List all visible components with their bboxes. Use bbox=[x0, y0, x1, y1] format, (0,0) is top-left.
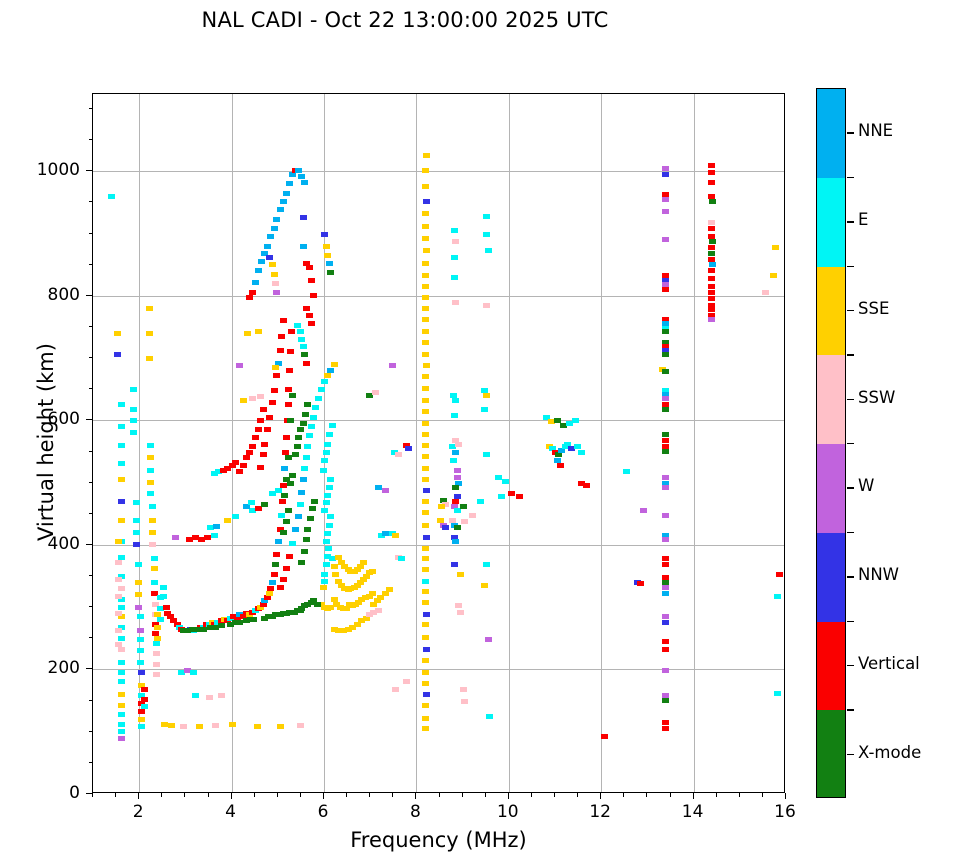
echo-mark bbox=[211, 533, 218, 538]
echo-mark bbox=[246, 295, 253, 300]
echo-mark bbox=[321, 232, 328, 237]
x-tick-minor bbox=[462, 793, 463, 797]
echo-mark bbox=[300, 244, 307, 249]
echo-mark bbox=[249, 444, 256, 449]
echo-mark bbox=[382, 531, 389, 536]
y-tick-major bbox=[86, 170, 92, 171]
echo-mark bbox=[269, 400, 276, 405]
echo-mark bbox=[422, 477, 429, 482]
echo-mark bbox=[422, 273, 429, 278]
echo-mark bbox=[422, 579, 429, 584]
echo-mark bbox=[329, 423, 336, 428]
echo-mark bbox=[708, 245, 715, 250]
echo-mark bbox=[118, 670, 125, 675]
echo-mark bbox=[267, 586, 274, 591]
echo-mark bbox=[272, 281, 279, 286]
echo-mark bbox=[555, 452, 562, 457]
echo-mark bbox=[708, 290, 715, 295]
echo-mark bbox=[662, 620, 669, 625]
echo-mark bbox=[133, 518, 140, 523]
echo-mark bbox=[147, 468, 154, 473]
echo-mark bbox=[662, 720, 669, 725]
echo-mark bbox=[422, 556, 429, 561]
echo-mark bbox=[295, 168, 302, 173]
echo-mark bbox=[272, 612, 279, 617]
echo-mark bbox=[574, 444, 581, 449]
echo-mark bbox=[708, 163, 715, 168]
x-tick-minor bbox=[531, 793, 532, 797]
echo-mark bbox=[422, 421, 429, 426]
colorbar-segment-nne[interactable] bbox=[817, 89, 845, 178]
colorbar-segment-w[interactable] bbox=[817, 444, 845, 533]
y-tick-minor bbox=[89, 326, 93, 327]
echo-mark bbox=[135, 605, 142, 610]
echo-mark bbox=[252, 435, 259, 440]
echo-mark bbox=[273, 552, 280, 557]
echo-mark bbox=[776, 572, 783, 577]
echo-mark bbox=[662, 287, 669, 292]
echo-mark bbox=[232, 514, 239, 519]
echo-mark bbox=[422, 211, 429, 216]
echo-mark bbox=[252, 280, 259, 285]
x-tick-label: 14 bbox=[663, 802, 723, 822]
echo-mark bbox=[508, 491, 515, 496]
colorbar-boundary-tick bbox=[847, 709, 854, 710]
echo-mark bbox=[323, 500, 330, 505]
colorbar-tick bbox=[847, 576, 854, 577]
echo-mark bbox=[438, 504, 445, 509]
echo-mark bbox=[450, 458, 457, 463]
x-tick-minor bbox=[346, 793, 347, 797]
echo-mark bbox=[662, 647, 669, 652]
echo-mark bbox=[303, 306, 310, 311]
echo-mark bbox=[392, 533, 399, 538]
echo-mark bbox=[149, 504, 156, 509]
echo-mark bbox=[288, 610, 295, 615]
page-title: NAL CADI - Oct 22 13:00:00 2025 UTC bbox=[0, 8, 810, 32]
echo-mark bbox=[308, 278, 315, 283]
echo-mark bbox=[153, 651, 160, 656]
x-tick-minor bbox=[739, 793, 740, 797]
echo-mark bbox=[297, 427, 304, 432]
echo-mark bbox=[422, 261, 429, 266]
colorbar-label-x-mode: X-mode bbox=[858, 743, 921, 762]
echo-mark bbox=[662, 197, 669, 202]
echo-mark bbox=[483, 562, 490, 567]
echo-mark bbox=[308, 321, 315, 326]
echo-mark bbox=[218, 623, 225, 628]
echo-mark bbox=[249, 396, 256, 401]
echo-mark bbox=[708, 180, 715, 185]
echo-mark bbox=[662, 432, 669, 437]
echo-mark bbox=[774, 691, 781, 696]
echo-mark bbox=[180, 724, 187, 729]
echo-mark bbox=[137, 614, 144, 619]
echo-mark bbox=[147, 480, 154, 485]
echo-mark bbox=[442, 525, 449, 530]
x-tick-minor bbox=[277, 793, 278, 797]
echo-mark bbox=[483, 393, 490, 398]
echo-mark bbox=[264, 244, 271, 249]
echo-mark bbox=[369, 569, 376, 574]
echo-mark bbox=[157, 617, 164, 622]
echo-mark bbox=[294, 444, 301, 449]
echo-mark bbox=[160, 585, 167, 590]
x-tick-label: 4 bbox=[201, 802, 261, 822]
echo-mark bbox=[190, 670, 197, 675]
y-tick-minor bbox=[89, 762, 93, 763]
echo-mark bbox=[502, 479, 509, 484]
x-tick-minor bbox=[439, 793, 440, 797]
echo-mark bbox=[115, 539, 122, 544]
echo-mark bbox=[146, 356, 153, 361]
echo-mark bbox=[138, 724, 145, 729]
echo-mark bbox=[118, 586, 125, 591]
echo-mark bbox=[133, 530, 140, 535]
echo-mark bbox=[246, 450, 253, 455]
x-tick-label: 10 bbox=[478, 802, 538, 822]
echo-mark bbox=[662, 485, 669, 490]
colorbar-segment-x-mode[interactable] bbox=[817, 710, 845, 798]
echo-mark bbox=[557, 463, 564, 468]
echo-mark bbox=[272, 365, 279, 370]
echo-mark bbox=[146, 306, 153, 311]
echo-mark bbox=[277, 348, 284, 353]
echo-mark bbox=[135, 592, 142, 597]
y-tick-minor bbox=[89, 451, 93, 452]
echo-mark bbox=[637, 581, 644, 586]
colorbar-segment-e[interactable] bbox=[817, 178, 845, 267]
echo-mark bbox=[423, 248, 430, 253]
echo-mark bbox=[572, 418, 579, 423]
echo-mark bbox=[151, 566, 158, 571]
y-tick-major bbox=[86, 793, 92, 794]
echo-mark bbox=[114, 352, 121, 357]
echo-mark bbox=[451, 562, 458, 567]
echo-mark bbox=[662, 726, 669, 731]
x-tick-minor bbox=[762, 793, 763, 797]
echo-mark bbox=[141, 697, 148, 702]
echo-mark bbox=[257, 418, 264, 423]
echo-mark bbox=[477, 499, 484, 504]
colorbar-boundary-tick bbox=[847, 532, 854, 533]
echo-mark bbox=[271, 272, 278, 277]
echo-mark bbox=[601, 734, 608, 739]
echo-mark bbox=[301, 180, 308, 185]
echo-mark bbox=[314, 602, 321, 607]
echo-mark bbox=[141, 687, 148, 692]
x-tick-label: 6 bbox=[293, 802, 353, 822]
echo-mark bbox=[115, 577, 122, 582]
echo-mark bbox=[662, 396, 669, 401]
echo-mark bbox=[386, 587, 393, 592]
echo-mark bbox=[422, 670, 429, 675]
echo-mark bbox=[422, 306, 429, 311]
echo-mark bbox=[708, 317, 715, 322]
echo-mark bbox=[422, 284, 429, 289]
echo-mark bbox=[708, 251, 715, 256]
echo-mark bbox=[224, 518, 231, 523]
echo-mark bbox=[115, 611, 122, 616]
echo-mark bbox=[422, 168, 429, 173]
colorbar-label-e: E bbox=[858, 210, 868, 229]
colorbar-boundary-tick bbox=[847, 354, 854, 355]
echo-mark bbox=[301, 466, 308, 471]
echo-mark bbox=[118, 518, 125, 523]
echo-mark bbox=[271, 226, 278, 231]
echo-mark bbox=[192, 693, 199, 698]
echo-mark bbox=[118, 722, 125, 727]
echo-mark bbox=[422, 224, 429, 229]
colorbar-segment-sse[interactable] bbox=[817, 267, 845, 356]
echo-mark bbox=[708, 276, 715, 281]
echo-mark bbox=[486, 714, 493, 719]
echo-mark bbox=[254, 724, 261, 729]
x-tick-minor bbox=[670, 793, 671, 797]
echo-mark bbox=[138, 670, 145, 675]
echo-mark bbox=[138, 717, 145, 722]
y-tick-label: 1000 bbox=[20, 160, 80, 180]
echo-mark bbox=[398, 556, 405, 561]
echo-mark bbox=[118, 712, 125, 717]
y-tick-minor bbox=[89, 700, 93, 701]
echo-mark bbox=[115, 560, 122, 565]
echo-mark bbox=[118, 499, 125, 504]
gridline-horizontal bbox=[93, 420, 784, 421]
echo-mark bbox=[483, 303, 490, 308]
echo-mark bbox=[118, 402, 125, 407]
echo-mark bbox=[303, 455, 310, 460]
echo-mark bbox=[285, 387, 292, 392]
echo-mark bbox=[662, 537, 669, 542]
echo-mark bbox=[662, 556, 669, 561]
colorbar-boundary-tick bbox=[847, 443, 854, 444]
echo-mark bbox=[455, 442, 462, 447]
echo-mark bbox=[422, 622, 429, 627]
echo-mark bbox=[662, 668, 669, 673]
echo-mark bbox=[454, 525, 461, 530]
echo-mark bbox=[422, 726, 429, 731]
echo-mark bbox=[280, 577, 287, 582]
echo-mark bbox=[422, 466, 429, 471]
x-tick-minor bbox=[392, 793, 393, 797]
echo-mark bbox=[255, 329, 262, 334]
echo-mark bbox=[321, 572, 328, 577]
x-tick-major bbox=[323, 793, 324, 799]
echo-mark bbox=[151, 556, 158, 561]
echo-mark bbox=[422, 510, 429, 515]
echo-mark bbox=[422, 409, 429, 414]
echo-mark bbox=[135, 562, 142, 567]
ionogram-page: NAL CADI - Oct 22 13:00:00 2025 UTC 2468… bbox=[0, 0, 958, 857]
echo-mark bbox=[160, 594, 167, 599]
echo-mark bbox=[289, 473, 296, 478]
echo-mark bbox=[261, 502, 268, 507]
echo-mark bbox=[118, 424, 125, 429]
echo-mark bbox=[130, 407, 137, 412]
echo-mark bbox=[422, 499, 429, 504]
x-tick-label: 8 bbox=[385, 802, 445, 822]
echo-mark bbox=[454, 508, 461, 513]
echo-mark bbox=[422, 658, 429, 663]
echo-mark bbox=[662, 438, 669, 443]
echo-mark bbox=[277, 207, 284, 212]
gridline-vertical bbox=[601, 94, 602, 792]
echo-mark bbox=[172, 535, 179, 540]
echo-mark bbox=[289, 172, 296, 177]
echo-mark bbox=[423, 363, 430, 368]
echo-mark bbox=[240, 398, 247, 403]
echo-mark bbox=[294, 323, 301, 328]
echo-mark bbox=[327, 477, 334, 482]
y-tick-minor bbox=[89, 108, 93, 109]
echo-mark bbox=[327, 270, 334, 275]
y-tick-minor bbox=[89, 606, 93, 607]
echo-mark bbox=[264, 595, 271, 600]
echo-mark bbox=[213, 524, 220, 529]
gridline-horizontal bbox=[93, 171, 784, 172]
x-tick-major bbox=[138, 793, 139, 799]
echo-mark bbox=[115, 594, 122, 599]
colorbar-label-nne: NNE bbox=[858, 121, 893, 140]
echo-mark bbox=[323, 244, 330, 249]
y-tick-minor bbox=[89, 357, 93, 358]
echo-mark bbox=[153, 641, 160, 646]
echo-mark bbox=[709, 199, 716, 204]
echo-mark bbox=[405, 446, 412, 451]
echo-mark bbox=[772, 245, 779, 250]
echo-mark bbox=[286, 554, 293, 559]
y-tick-label: 800 bbox=[20, 285, 80, 305]
echo-mark bbox=[662, 614, 669, 619]
x-tick-minor bbox=[115, 793, 116, 797]
echo-mark bbox=[257, 394, 264, 399]
echo-mark bbox=[278, 513, 285, 518]
echo-mark bbox=[452, 450, 459, 455]
echo-mark bbox=[395, 452, 402, 457]
x-tick-major bbox=[415, 793, 416, 799]
echo-mark bbox=[323, 450, 330, 455]
echo-mark bbox=[516, 494, 523, 499]
echo-mark bbox=[324, 373, 331, 378]
echo-mark bbox=[138, 709, 145, 714]
ionogram-plot-area[interactable] bbox=[92, 93, 785, 793]
x-tick-major bbox=[693, 793, 694, 799]
echo-mark bbox=[311, 499, 318, 504]
echo-mark bbox=[271, 388, 278, 393]
echo-mark bbox=[483, 452, 490, 457]
echo-mark bbox=[309, 506, 316, 511]
echo-mark bbox=[304, 444, 311, 449]
echo-mark bbox=[287, 481, 294, 486]
echo-mark bbox=[264, 427, 271, 432]
colorbar-tick bbox=[847, 487, 854, 488]
echo-mark bbox=[325, 546, 332, 551]
echo-mark bbox=[295, 435, 302, 440]
echo-mark bbox=[455, 603, 462, 608]
echo-mark bbox=[770, 273, 777, 278]
echo-mark bbox=[285, 508, 292, 513]
gridline-vertical bbox=[694, 94, 695, 792]
echo-mark bbox=[469, 513, 476, 518]
y-tick-minor bbox=[89, 139, 93, 140]
echo-mark bbox=[298, 337, 305, 342]
y-tick-minor bbox=[89, 731, 93, 732]
echo-mark bbox=[382, 488, 389, 493]
echo-mark bbox=[118, 703, 125, 708]
echo-mark bbox=[236, 620, 243, 625]
echo-mark bbox=[321, 579, 328, 584]
echo-mark bbox=[343, 606, 350, 611]
echo-mark bbox=[304, 527, 311, 532]
colorbar-segment-ssw[interactable] bbox=[817, 355, 845, 444]
colorbar-segment-vertical[interactable] bbox=[817, 622, 845, 711]
colorbar-tick bbox=[847, 399, 854, 400]
echo-mark bbox=[457, 610, 464, 615]
echo-mark bbox=[283, 566, 290, 571]
echo-mark bbox=[481, 407, 488, 412]
echo-mark bbox=[321, 379, 328, 384]
x-tick-minor bbox=[300, 793, 301, 797]
colorbar-segment-nnw[interactable] bbox=[817, 533, 845, 622]
echo-mark bbox=[331, 362, 338, 367]
echo-mark bbox=[298, 174, 305, 179]
echo-mark bbox=[300, 215, 307, 220]
echo-mark bbox=[280, 199, 287, 204]
echo-mark bbox=[583, 483, 590, 488]
echo-mark bbox=[255, 427, 262, 432]
echo-mark bbox=[422, 432, 429, 437]
echo-mark bbox=[312, 405, 319, 410]
echo-mark bbox=[422, 236, 429, 241]
y-tick-label: 200 bbox=[20, 658, 80, 678]
azimuth-colorbar[interactable] bbox=[816, 88, 846, 798]
echo-mark bbox=[403, 679, 410, 684]
echo-mark bbox=[269, 580, 276, 585]
colorbar-label-ssw: SSW bbox=[858, 388, 895, 407]
y-tick-minor bbox=[89, 388, 93, 389]
x-tick-minor bbox=[577, 793, 578, 797]
echo-mark bbox=[422, 454, 429, 459]
echo-mark bbox=[422, 329, 429, 334]
echo-mark bbox=[306, 433, 313, 438]
echo-mark bbox=[279, 499, 286, 504]
echo-mark bbox=[308, 424, 315, 429]
echo-mark bbox=[236, 469, 243, 474]
echo-mark bbox=[485, 637, 492, 642]
y-axis-title: Virtual height (km) bbox=[34, 312, 58, 572]
echo-mark bbox=[640, 508, 647, 513]
x-tick-minor bbox=[369, 793, 370, 797]
echo-mark bbox=[360, 560, 367, 565]
echo-mark bbox=[662, 585, 669, 590]
x-tick-minor bbox=[208, 793, 209, 797]
echo-mark bbox=[135, 580, 142, 585]
echo-mark bbox=[260, 407, 267, 412]
colorbar-tick bbox=[847, 221, 854, 222]
echo-mark bbox=[147, 491, 154, 496]
echo-mark bbox=[423, 488, 430, 493]
echo-mark bbox=[326, 485, 333, 490]
echo-mark bbox=[285, 455, 292, 460]
x-tick-minor bbox=[92, 793, 93, 797]
echo-mark bbox=[662, 475, 669, 480]
echo-mark bbox=[141, 704, 148, 709]
echo-mark bbox=[452, 300, 459, 305]
echo-mark bbox=[662, 449, 669, 454]
echo-mark bbox=[243, 455, 250, 460]
echo-mark bbox=[295, 514, 302, 519]
